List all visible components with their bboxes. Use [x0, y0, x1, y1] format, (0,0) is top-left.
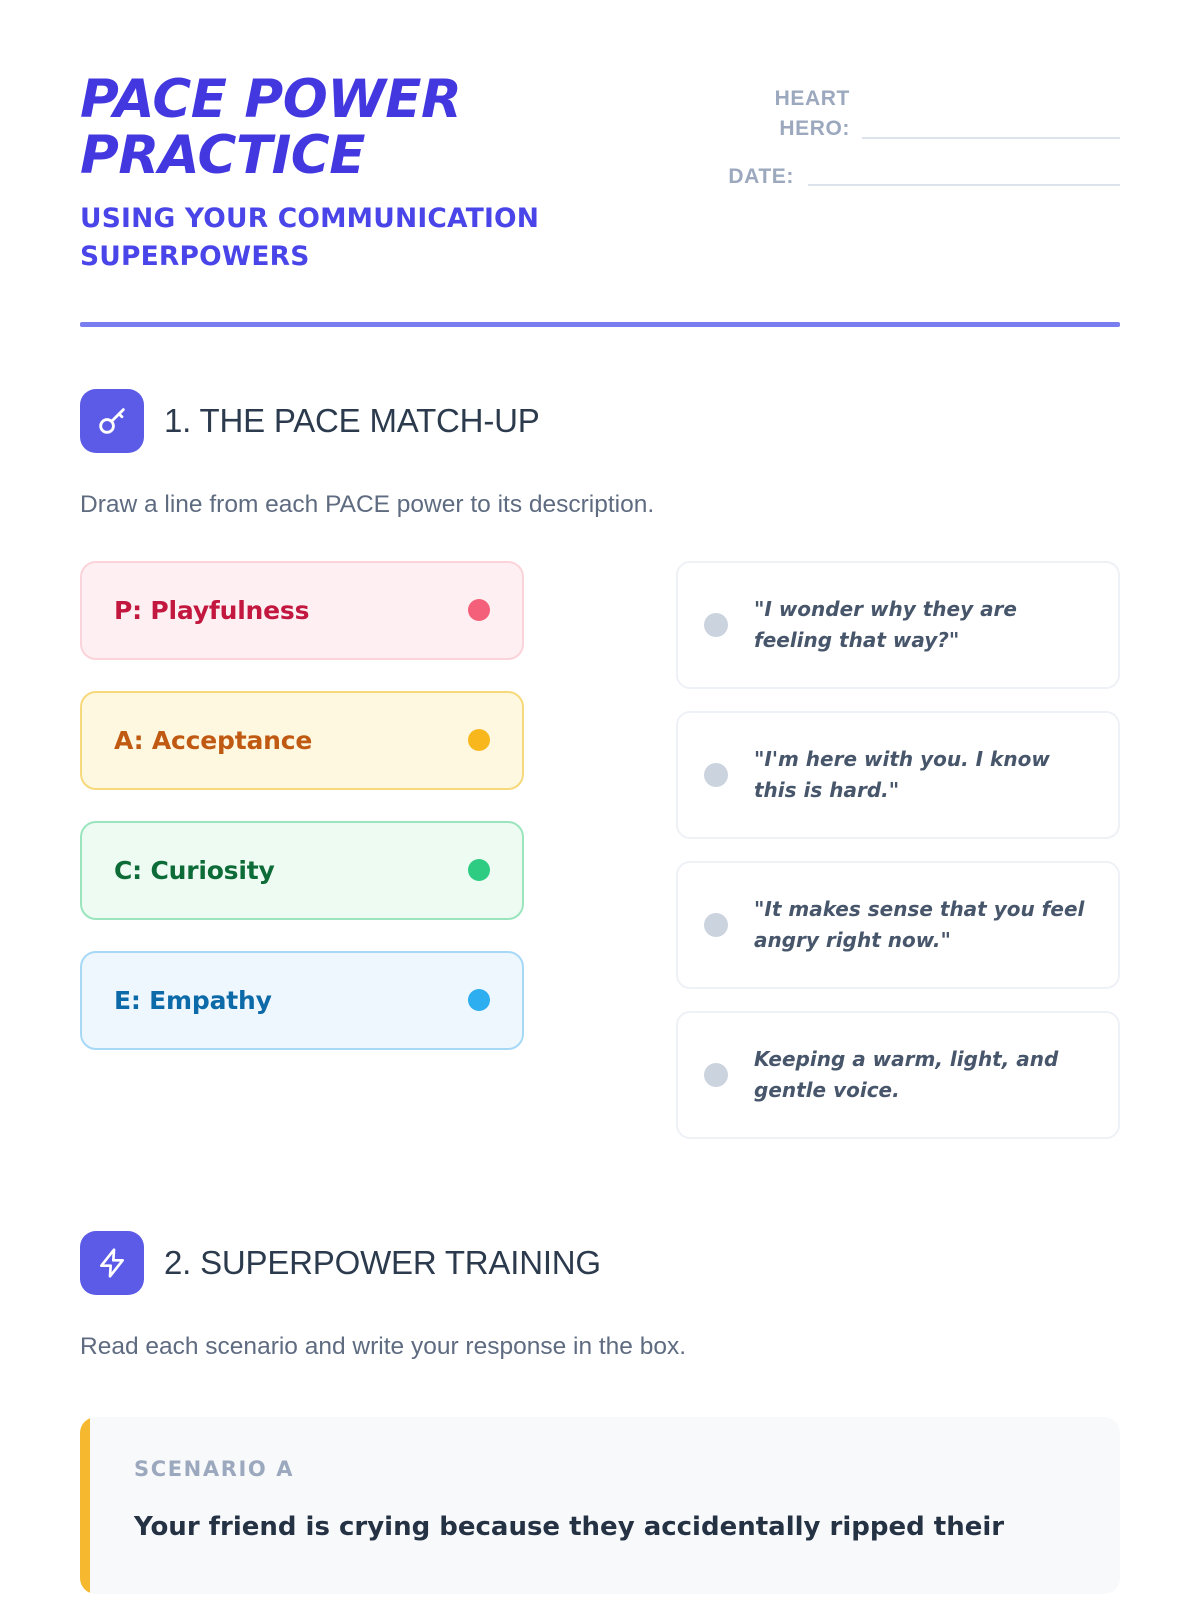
date-input[interactable]: [808, 184, 1120, 186]
section-2-instruction: Read each scenario and write your respon…: [80, 1333, 1120, 1361]
scenario-text: Your friend is crying because they accid…: [134, 1509, 1072, 1547]
description-cards-column: "I wonder why they are feeling that way?…: [676, 561, 1120, 1139]
description-text: "I'm here with you. I know this is hard.…: [754, 744, 1090, 805]
page-title: PACE POWER PRACTICE: [80, 72, 640, 184]
meta-fields: HEART HERO: DATE:: [708, 72, 1120, 191]
pace-card-label: P: Playfulness: [114, 596, 309, 625]
pace-card-label: C: Curiosity: [114, 856, 275, 885]
pace-connector-dot[interactable]: [468, 859, 490, 881]
heart-hero-input[interactable]: [862, 137, 1120, 139]
pace-card-curiosity[interactable]: C: Curiosity: [80, 821, 524, 920]
pace-card-label: A: Acceptance: [114, 726, 312, 755]
key-icon: [80, 389, 144, 453]
page-subtitle: USING YOUR COMMUNICATION SUPERPOWERS: [80, 200, 640, 275]
pace-card-label: E: Empathy: [114, 986, 272, 1015]
page-header: PACE POWER PRACTICE USING YOUR COMMUNICA…: [80, 0, 1120, 276]
pace-connector-dot[interactable]: [468, 729, 490, 751]
heart-hero-label: HEART HERO:: [775, 84, 850, 144]
description-connector-dot[interactable]: [704, 913, 728, 937]
date-field-row: DATE:: [708, 162, 1120, 192]
scenario-accent-bar: [80, 1417, 90, 1595]
date-label: DATE:: [728, 162, 794, 192]
description-connector-dot[interactable]: [704, 763, 728, 787]
title-block: PACE POWER PRACTICE USING YOUR COMMUNICA…: [80, 72, 640, 276]
header-divider: [80, 322, 1120, 327]
description-text: "I wonder why they are feeling that way?…: [754, 594, 1090, 655]
description-connector-dot[interactable]: [704, 1063, 728, 1087]
section-1-header: 1. THE PACE MATCH-UP: [80, 389, 1120, 453]
heart-hero-field-row: HEART HERO:: [708, 84, 1120, 144]
description-card[interactable]: "I wonder why they are feeling that way?…: [676, 561, 1120, 689]
section-1-instruction: Draw a line from each PACE power to its …: [80, 491, 1120, 519]
description-text: "It makes sense that you feel angry righ…: [754, 894, 1090, 955]
pace-cards-column: P: Playfulness A: Acceptance C: Curiosit…: [80, 561, 524, 1139]
worksheet-page: PACE POWER PRACTICE USING YOUR COMMUNICA…: [0, 0, 1200, 1600]
section-2-title: 2. SUPERPOWER TRAINING: [164, 1244, 601, 1282]
description-text: Keeping a warm, light, and gentle voice.: [754, 1044, 1090, 1105]
scenario-tag: SCENARIO A: [134, 1457, 1072, 1481]
pace-connector-dot[interactable]: [468, 599, 490, 621]
scenario-card-a: SCENARIO A Your friend is crying because…: [80, 1417, 1120, 1595]
pace-connector-dot[interactable]: [468, 989, 490, 1011]
pace-card-empathy[interactable]: E: Empathy: [80, 951, 524, 1050]
match-up-grid: P: Playfulness A: Acceptance C: Curiosit…: [80, 561, 1120, 1139]
description-card[interactable]: Keeping a warm, light, and gentle voice.: [676, 1011, 1120, 1139]
description-connector-dot[interactable]: [704, 613, 728, 637]
section-1-title: 1. THE PACE MATCH-UP: [164, 402, 540, 440]
pace-card-playfulness[interactable]: P: Playfulness: [80, 561, 524, 660]
description-card[interactable]: "I'm here with you. I know this is hard.…: [676, 711, 1120, 839]
pace-card-acceptance[interactable]: A: Acceptance: [80, 691, 524, 790]
description-card[interactable]: "It makes sense that you feel angry righ…: [676, 861, 1120, 989]
section-2-header: 2. SUPERPOWER TRAINING: [80, 1231, 1120, 1295]
lightning-bolt-icon: [80, 1231, 144, 1295]
